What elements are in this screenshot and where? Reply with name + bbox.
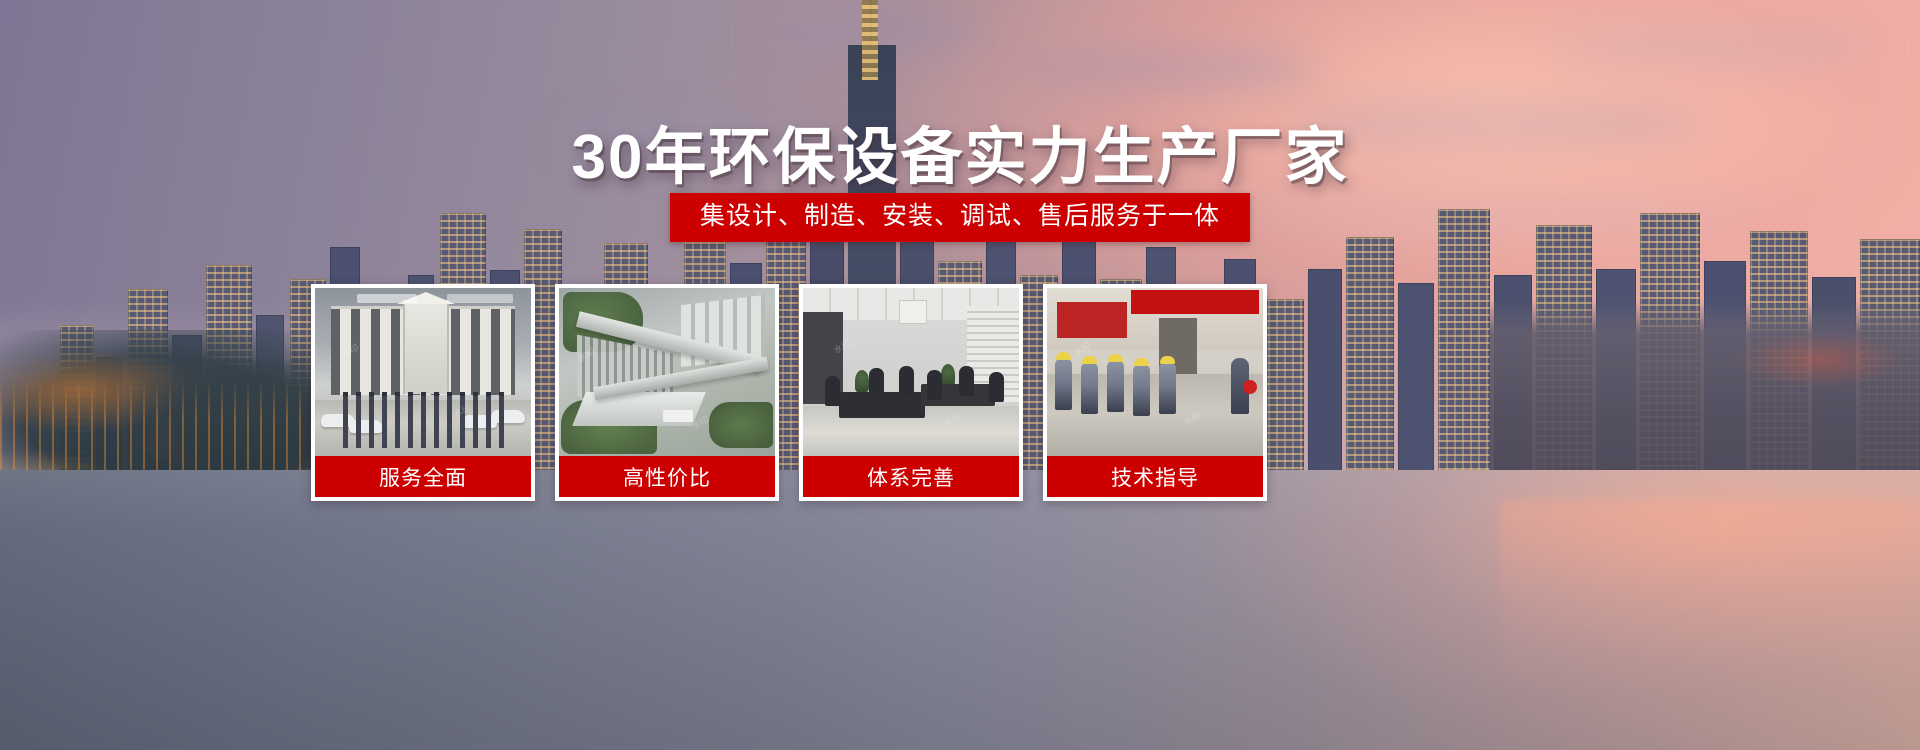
feature-card-label: 服务全面 [315,456,531,497]
worker [1133,364,1150,416]
office-meeting-room-with-employees-photo: 水印 水印 [803,288,1019,456]
feature-card-label: 体系完善 [803,456,1019,497]
red-wall-banner [1131,290,1259,314]
employee [869,368,884,398]
truck [663,410,693,422]
worker [1107,360,1124,412]
potted-plant [855,370,869,392]
red-object [1243,380,1257,394]
subtitle-badge: 集设计、制造、安装、调试、售后服务于一体 [670,193,1250,242]
potted-plant [941,364,955,386]
worker [1055,358,1072,410]
company-logo-overlay [357,294,417,303]
hard-hat [1134,358,1149,366]
feature-card[interactable]: 水印 水印 体系完善 [799,284,1023,501]
building-entrance [403,300,449,394]
aerial-view-of-production-plant-photo: 水印 水印 [559,288,775,456]
subtitle-container: 集设计、制造、安装、调试、售后服务于一体 [0,193,1920,242]
worker [1081,362,1098,414]
hard-hat [1160,356,1175,364]
employee [899,366,914,396]
feature-card-label: 高性价比 [559,456,775,497]
feature-card[interactable]: 水印 水印 高性价比 [555,284,779,501]
staff-lineup [339,396,511,448]
hard-hat [1108,354,1123,362]
employee [989,372,1004,402]
worker [1159,362,1176,414]
feature-card-label: 技术指导 [1047,456,1263,497]
employee [927,370,942,400]
hero-banner: 30年环保设备实力生产厂家 集设计、制造、安装、调试、售后服务于一体 [0,0,1920,750]
wall-artwork [899,300,927,324]
feature-card[interactable]: 水印 水印 技术指导 [1043,284,1267,501]
hard-hat [1082,356,1097,364]
red-wall-banner [1057,302,1127,338]
feature-card[interactable]: 水印 水印 服务全面 [311,284,535,501]
feature-card-list: 水印 水印 服务全面 水印 水印 [311,284,1267,501]
workshop-workers-with-hard-hats-photo: 水印 水印 [1047,288,1263,456]
page-title: 30年环保设备实力生产厂家 [0,106,1920,196]
hard-hat [1056,352,1071,360]
banner-content: 30年环保设备实力生产厂家 集设计、制造、安装、调试、售后服务于一体 [0,0,1920,750]
phone-number-overlay [447,294,513,303]
employee [825,376,840,406]
greenery [709,402,773,448]
employee [959,366,974,396]
company-office-building-with-staff-photo: 水印 水印 [315,288,531,456]
